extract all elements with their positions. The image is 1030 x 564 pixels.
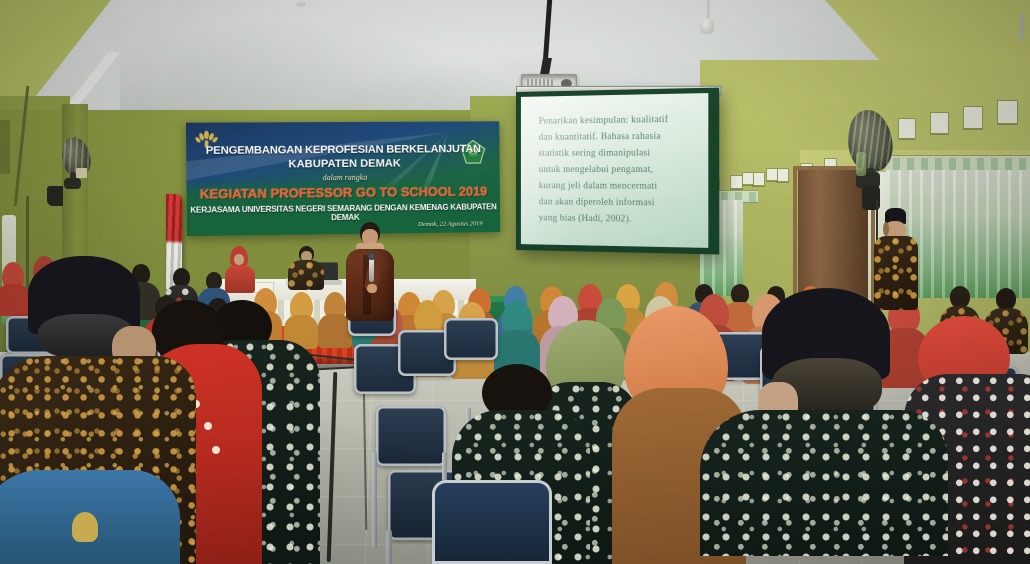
projection-screen: Penarikan kesimpulan: kualitatif dan kua… xyxy=(516,88,719,255)
ear xyxy=(883,222,889,236)
microphone-head xyxy=(367,252,376,260)
wall-seam xyxy=(1020,14,1024,40)
bead xyxy=(204,422,212,430)
fan-blade-highlight xyxy=(856,152,866,176)
vent-block xyxy=(963,106,983,129)
audience-member-foreground xyxy=(0,470,180,564)
ceiling-lamp-icon xyxy=(700,18,714,34)
event-banner: PENGEMBANGAN KEPROFESIAN BERKELANJUTAN K… xyxy=(186,121,500,236)
chair[interactable] xyxy=(444,318,498,360)
fan-bracket xyxy=(47,186,63,206)
hair xyxy=(996,288,1016,310)
slide-line: dan kuantitatif. Bahasa rahasia xyxy=(539,127,691,145)
banner-line-1: PENGEMBANGAN KEPROFESIAN BERKELANJUTAN xyxy=(186,143,499,158)
fan-label xyxy=(76,168,87,178)
chair[interactable] xyxy=(376,406,446,466)
slide-text-block: Penarikan kesimpulan: kualitatif dan kua… xyxy=(539,110,691,227)
ceiling-mark-icon xyxy=(296,2,306,7)
seated-panelist-2 xyxy=(288,246,324,288)
conference-hall-photo: Penarikan kesimpulan: kualitatif dan kua… xyxy=(0,0,1030,564)
vent-block xyxy=(930,112,949,134)
slide-line: untuk mengelabui pengamat, xyxy=(539,161,691,178)
chair-logo-icon xyxy=(72,512,98,542)
slide-line: yang bias (Hadi, 2002). xyxy=(539,209,691,227)
audience-member-foreground xyxy=(700,288,950,564)
chair[interactable] xyxy=(432,480,552,564)
chair-leg xyxy=(386,530,392,564)
slide-line: Penarikan kesimpulan: kualitatif xyxy=(539,110,691,129)
slide-line: kurang jeli dalam mencermati xyxy=(539,177,691,194)
batik-shirt xyxy=(700,410,948,556)
vent-block xyxy=(997,100,1018,124)
face xyxy=(234,254,244,265)
projection-screen-surface: Penarikan kesimpulan: kualitatif dan kua… xyxy=(521,93,708,248)
hair xyxy=(950,286,970,308)
fan-motor xyxy=(64,178,81,189)
standing-presenter xyxy=(344,222,396,350)
torso xyxy=(288,260,324,290)
wall-shadow xyxy=(0,120,10,174)
bead xyxy=(212,446,220,454)
hijab xyxy=(502,300,532,334)
vent-block xyxy=(742,172,754,185)
chair-leg xyxy=(372,452,377,548)
presenter-hand xyxy=(367,284,377,293)
vent-block xyxy=(898,118,916,139)
slide-line: dan akan diperoleh informasi xyxy=(539,193,691,211)
slide-line: statistik sering dimanipulasi xyxy=(539,144,691,161)
banner-line-2: KABUPATEN DEMAK xyxy=(186,157,499,172)
vent-block xyxy=(766,168,778,181)
